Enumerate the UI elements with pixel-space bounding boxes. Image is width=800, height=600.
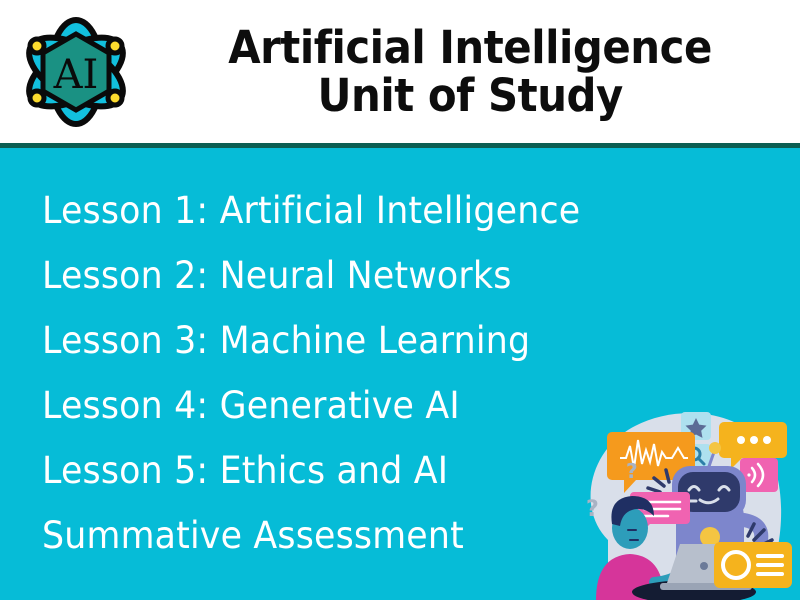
three-dots-icon — [737, 436, 771, 444]
page-title: Artificial Intelligence Unit of Study — [140, 0, 800, 143]
title-line-2: Unit of Study — [317, 72, 622, 119]
svg-text:?: ? — [626, 459, 638, 483]
header-divider — [0, 143, 800, 148]
profile-card — [714, 542, 792, 588]
lesson-item-2[interactable]: Lesson 2: Neural Networks — [42, 243, 644, 308]
lesson-item-5[interactable]: Lesson 5: Ethics and AI — [42, 438, 644, 503]
lesson-item-1[interactable]: Lesson 1: Artificial Intelligence — [42, 178, 644, 243]
title-line-1: Artificial Intelligence — [228, 24, 712, 71]
antenna-ball — [709, 442, 721, 454]
slide-canvas: AI Artificial Intelligence Unit of Study… — [0, 0, 800, 600]
atom-ai-logo-icon: AI — [16, 10, 136, 134]
svg-text:?: ? — [586, 497, 599, 522]
lesson-item-4[interactable]: Lesson 4: Generative AI — [42, 373, 644, 438]
logo-label: AI — [53, 52, 99, 98]
lesson-item-6[interactable]: Summative Assessment — [42, 503, 644, 568]
robot-and-student-illustration: ? ? — [568, 400, 800, 600]
header-bar: AI Artificial Intelligence Unit of Study — [0, 0, 800, 143]
lesson-item-3[interactable]: Lesson 3: Machine Learning — [42, 308, 644, 373]
